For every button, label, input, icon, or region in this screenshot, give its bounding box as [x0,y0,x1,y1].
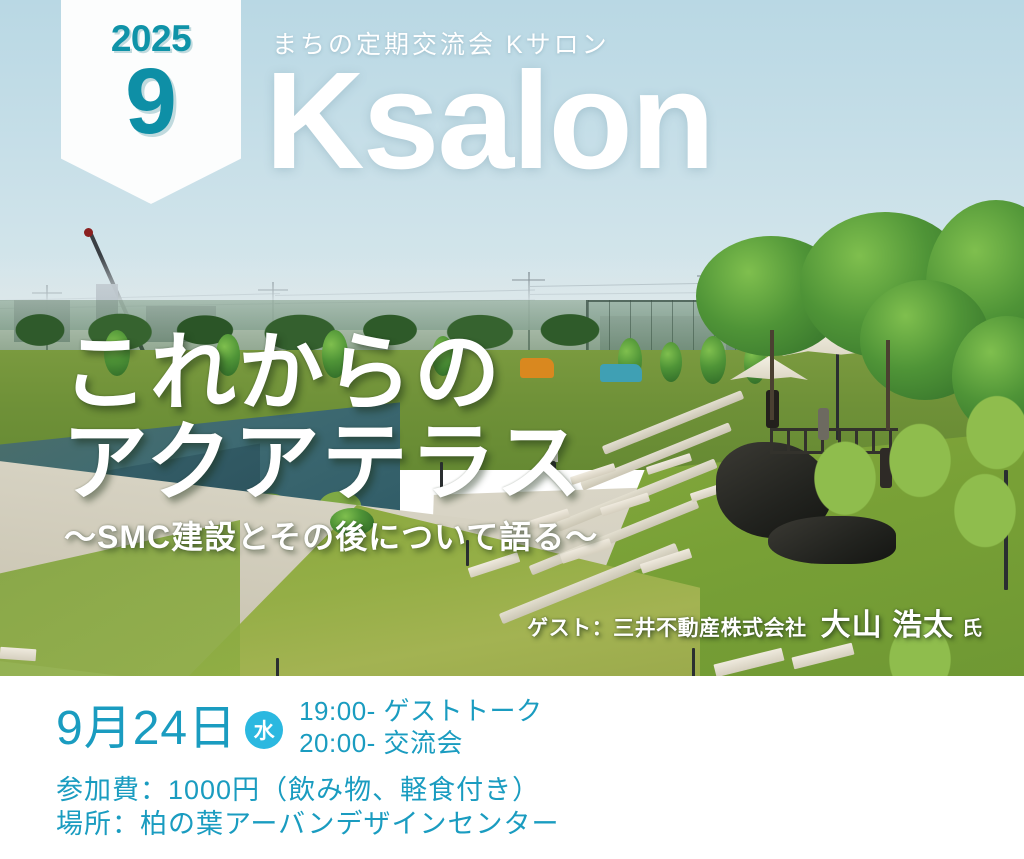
date-row: 9月24日 水 19:00- ゲストトーク 20:00- 交流会 [56,698,559,759]
title-line-2: アクアテラス [62,420,598,506]
guest-label: ゲスト：三井不動産株式会社 [527,617,807,640]
ksalon-wordmark: Ksalon [265,52,713,190]
hero-photograph: まちの定期交流会 Kサロン Ksalon 2025 9 これからの アクアテラス… [0,0,1024,676]
title-line-1: これからの [62,330,598,416]
info-list: 参加費：1000円（飲み物、軽食付き） 場所：柏の葉アーバンデザインセンター [56,773,559,841]
event-poster: まちの定期交流会 Kサロン Ksalon 2025 9 これからの アクアテラス… [0,0,1024,859]
park-bench [0,647,36,661]
guest-honorific: 氏 [962,618,982,640]
parked-car [600,364,642,382]
bollard-light [692,648,695,676]
ornamental-grass [930,430,1024,560]
event-details-block: 9月24日 水 19:00- ゲストトーク 20:00- 交流会 参加費：100… [56,698,559,841]
title-subtitle: 〜SMC建設とその後について語る〜 [64,512,598,558]
ribbon-month: 9 [125,55,177,148]
tree-trunk [770,330,774,420]
crane-tip [84,228,93,237]
info-venue: 場所：柏の葉アーバンデザインセンター [56,807,559,841]
street-tree [700,336,726,384]
poster-title-block: これからの アクアテラス 〜SMC建設とその後について語る〜 [62,330,598,558]
event-date: 9月24日 [56,705,237,753]
street-tree [660,342,682,382]
schedule-item-networking: 20:00- 交流会 [299,728,542,760]
day-of-week-badge: 水 [245,711,283,749]
guest-name: 大山 浩太 [821,609,954,642]
schedule-item-guest-talk: 19:00- ゲストトーク [299,696,542,728]
poster-footer: 9月24日 水 19:00- ゲストトーク 20:00- 交流会 参加費：100… [0,676,1024,859]
ornamental-grass [800,410,890,520]
schedule-list: 19:00- ゲストトーク 20:00- 交流会 [299,696,542,759]
info-fee: 参加費：1000円（飲み物、軽食付き） [56,773,559,807]
rock-feature [768,516,896,564]
guest-speaker-line: ゲスト：三井不動産株式会社大山 浩太氏 [527,600,982,644]
bollard-light [276,658,279,676]
